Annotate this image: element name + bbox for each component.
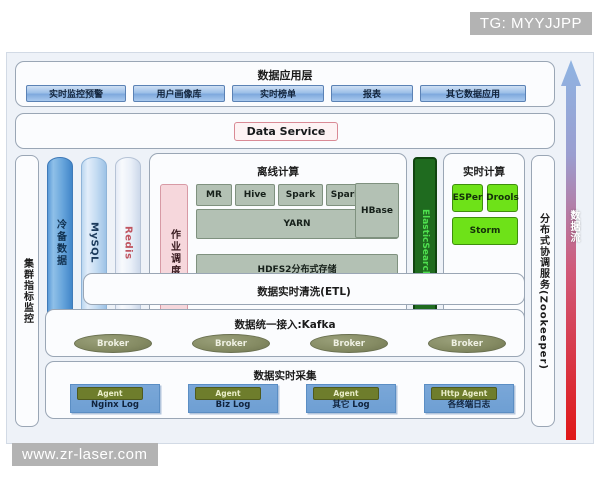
job-scheduler-label: 作业调度 [167,229,182,277]
realtime-computing-title: 实时计算 [444,164,524,179]
offline-computing-title: 离线计算 [150,164,406,179]
realtime-engine-esper[interactable]: ESPer [452,184,483,212]
data-flow-label: 数据流 [561,210,581,243]
storage-cylinder-cold-backup: 冷备数据 [47,157,73,329]
tg-watermark: TG: MYYJJPP [470,12,592,35]
storage-cylinder-cold-backup-label: 冷备数据 [53,219,68,267]
agent-source-label: Nginx Log [71,400,159,410]
agent-source-label: Biz Log [189,400,277,410]
data-collection-title: 数据实时采集 [46,368,524,383]
data-service-layer: Data Service [15,113,555,149]
data-application-layer: 数据应用层 实时监控预警 用户画像库 实时榜单 报表 其它数据应用 [15,61,555,107]
storage-cylinder-redis-label: Redis [123,226,134,260]
kafka-panel: 数据统一接入:Kafka Broker Broker Broker Broker [45,309,525,357]
kafka-title: 数据统一接入:Kafka [46,317,524,332]
collection-agent-card[interactable]: Agent Nginx Log [70,384,160,413]
kafka-broker[interactable]: Broker [74,334,152,353]
site-watermark: www.zr-laser.com [12,443,158,466]
zookeeper-coordination-label: 分布式协调服务(Zookeeper) [536,213,551,370]
app-button-realtime-ranking[interactable]: 实时榜单 [232,85,324,102]
data-application-layer-title: 数据应用层 [16,67,554,83]
data-flow-arrow [560,60,582,440]
offline-hbase[interactable]: HBase [355,183,399,238]
realtime-computing-panel: 实时计算 ESPer Drools Storm [443,153,525,333]
agent-source-label: 其它 Log [307,398,395,410]
app-button-realtime-monitoring[interactable]: 实时监控预警 [26,85,126,102]
collection-agent-card[interactable]: Agent 其它 Log [306,384,396,413]
collection-agent-card[interactable]: Http Agent 各终端日志 [424,384,514,413]
agent-chip: Agent [195,387,261,400]
offline-computing-panel: 离线计算 作业调度 MR Hive Spark Spark MLLib YARN… [149,153,407,333]
kafka-broker[interactable]: Broker [310,334,388,353]
architecture-diagram: 数据应用层 实时监控预警 用户画像库 实时榜单 报表 其它数据应用 Data S… [6,52,594,444]
zookeeper-coordination-rail: 分布式协调服务(Zookeeper) [531,155,555,427]
elasticsearch-label: ElasticSearch [420,209,430,277]
collection-agent-card[interactable]: Agent Biz Log [188,384,278,413]
agent-source-label: 各终端日志 [425,398,513,410]
app-button-other-data-apps[interactable]: 其它数据应用 [420,85,526,102]
data-collection-panel: 数据实时采集 Agent Nginx Log Agent Biz Log Age… [45,361,525,419]
storage-cylinder-mysql-label: MySQL [89,222,100,263]
kafka-broker[interactable]: Broker [428,334,506,353]
app-button-reports[interactable]: 报表 [331,85,413,102]
offline-engine-hive[interactable]: Hive [235,184,275,206]
realtime-engine-drools[interactable]: Drools [487,184,518,212]
etl-panel: 数据实时清洗(ETL) [83,273,525,305]
offline-engine-mr[interactable]: MR [196,184,232,206]
kafka-broker[interactable]: Broker [192,334,270,353]
cluster-metrics-monitor-rail: 集群指标监控 [15,155,39,427]
data-service-box[interactable]: Data Service [234,122,338,141]
app-button-user-profile[interactable]: 用户画像库 [133,85,225,102]
realtime-engine-storm[interactable]: Storm [452,217,518,245]
etl-title: 数据实时清洗(ETL) [84,284,524,299]
offline-engine-spark[interactable]: Spark [278,184,323,206]
agent-chip: Agent [77,387,143,400]
diagram-canvas: TG: MYYJJPP www.zr-laser.com 数据流 数据应用层 实… [0,0,600,480]
cluster-metrics-monitor-label: 集群指标监控 [20,258,35,324]
